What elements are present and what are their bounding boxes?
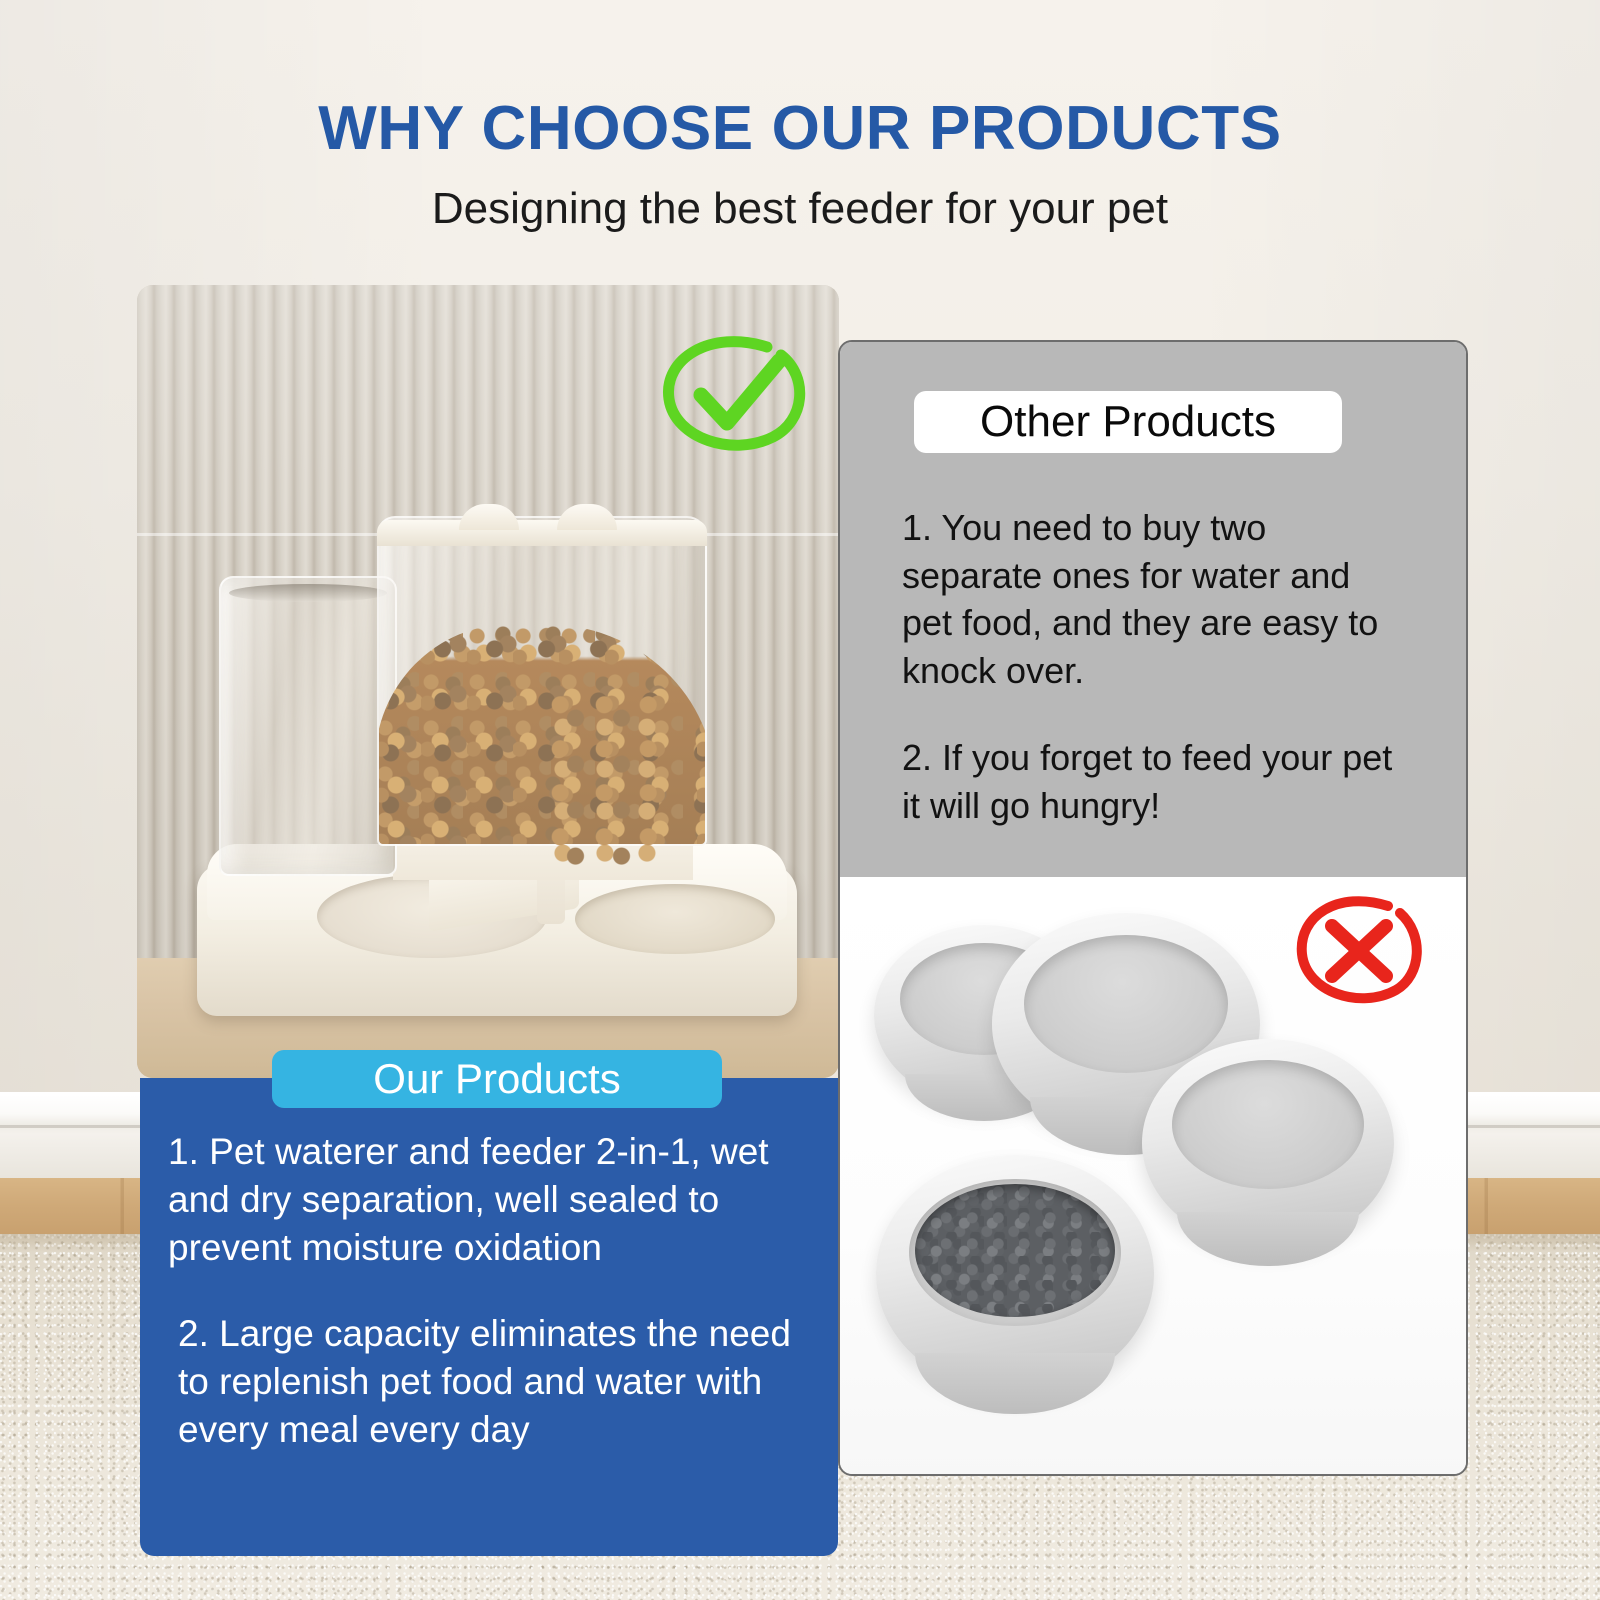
bowl-foot — [915, 1353, 1115, 1415]
kibble-fill — [377, 624, 707, 846]
bowl-middle-right — [1142, 1039, 1394, 1247]
other-products-panel: Other Products 1. You need to buy two se… — [840, 342, 1466, 877]
other-products-bullets: 1. You need to buy two separate ones for… — [902, 504, 1402, 829]
our-products-label: Our Products — [373, 1058, 620, 1100]
feeder-lid — [377, 520, 707, 546]
other-products-pill: Other Products — [914, 391, 1342, 453]
feeder-water-tank — [219, 576, 397, 876]
other-bullet-1: 1. You need to buy two separate ones for… — [902, 504, 1402, 694]
kibble-dispensing — [547, 696, 657, 866]
green-check-circle-icon — [655, 333, 810, 455]
grey-kibble-fill — [915, 1184, 1115, 1317]
our-bullet-1: 1. Pet waterer and feeder 2-in-1, wet an… — [168, 1128, 810, 1272]
bowl-inner — [1024, 935, 1228, 1073]
other-products-label: Other Products — [980, 400, 1276, 444]
red-x-circle-icon — [1292, 894, 1424, 1006]
page-subtitle: Designing the best feeder for your pet — [0, 185, 1600, 233]
header: WHY CHOOSE OUR PRODUCTS Designing the be… — [0, 96, 1600, 233]
feeder-food-dish — [575, 884, 775, 954]
feeder-lid-nub-right — [557, 504, 617, 530]
infographic-page: WHY CHOOSE OUR PRODUCTS Designing the be… — [0, 0, 1600, 1600]
feeder-food-hopper — [377, 516, 707, 846]
feeder-lid-nub-left — [459, 504, 519, 530]
our-bullet-2: 2. Large capacity eliminates the need to… — [168, 1310, 810, 1454]
pet-feeder-device — [197, 496, 797, 1016]
page-title: WHY CHOOSE OUR PRODUCTS — [0, 96, 1600, 161]
our-products-bullets: 1. Pet waterer and feeder 2-in-1, wet an… — [168, 1128, 810, 1455]
other-product-card: Other Products 1. You need to buy two se… — [838, 340, 1468, 1476]
our-products-pill: Our Products — [272, 1050, 722, 1108]
other-bullet-2: 2. If you forget to feed your pet it wil… — [902, 734, 1402, 829]
bowl-inner — [1172, 1060, 1364, 1189]
bowl-front-with-food — [876, 1155, 1154, 1393]
other-product-photo — [840, 877, 1466, 1476]
bowl-foot — [1177, 1212, 1358, 1266]
